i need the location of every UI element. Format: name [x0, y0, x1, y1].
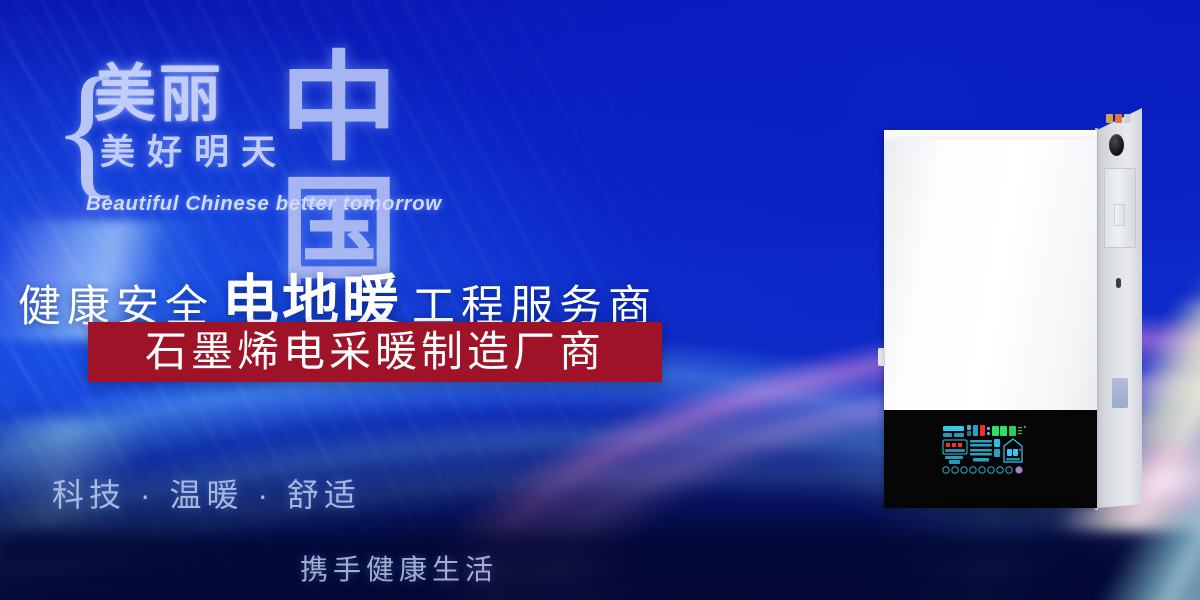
tagline-primary: 科技 · 温暖 · 舒适: [52, 470, 361, 516]
logo-line-2: 美好明天: [100, 134, 288, 172]
product-side-port-icon: [1109, 134, 1124, 156]
bottom-dark-band-2: [0, 566, 1200, 600]
product-side-vent: [1112, 378, 1128, 408]
product-side-knob: [1114, 204, 1125, 226]
logo-english-tagline: Beautiful Chinese better tomorrow: [86, 192, 442, 216]
product-image-electric-boiler: [862, 108, 1162, 528]
product-side-hole-icon: [1116, 278, 1121, 288]
brand-logo: { 中国 美丽 美好明天 Beautiful Chinese better to…: [52, 52, 482, 224]
product-front-nub: [878, 348, 885, 366]
product-top-connector-1: [1106, 114, 1113, 123]
red-highlight-bar: 石墨烯电采暖制造厂商: [88, 322, 662, 382]
logo-line-1: 美丽: [94, 62, 224, 128]
promo-banner: { 中国 美丽 美好明天 Beautiful Chinese better to…: [0, 0, 1200, 600]
product-lcd-display: [940, 424, 1026, 476]
product-top-connector-2: [1115, 114, 1122, 123]
product-front-top-edge: [884, 130, 1097, 140]
tagline-secondary: 携手健康生活: [300, 548, 498, 588]
product-top-connector-3: [1124, 114, 1131, 123]
red-bar-text: 石墨烯电采暖制造厂商: [145, 331, 605, 373]
